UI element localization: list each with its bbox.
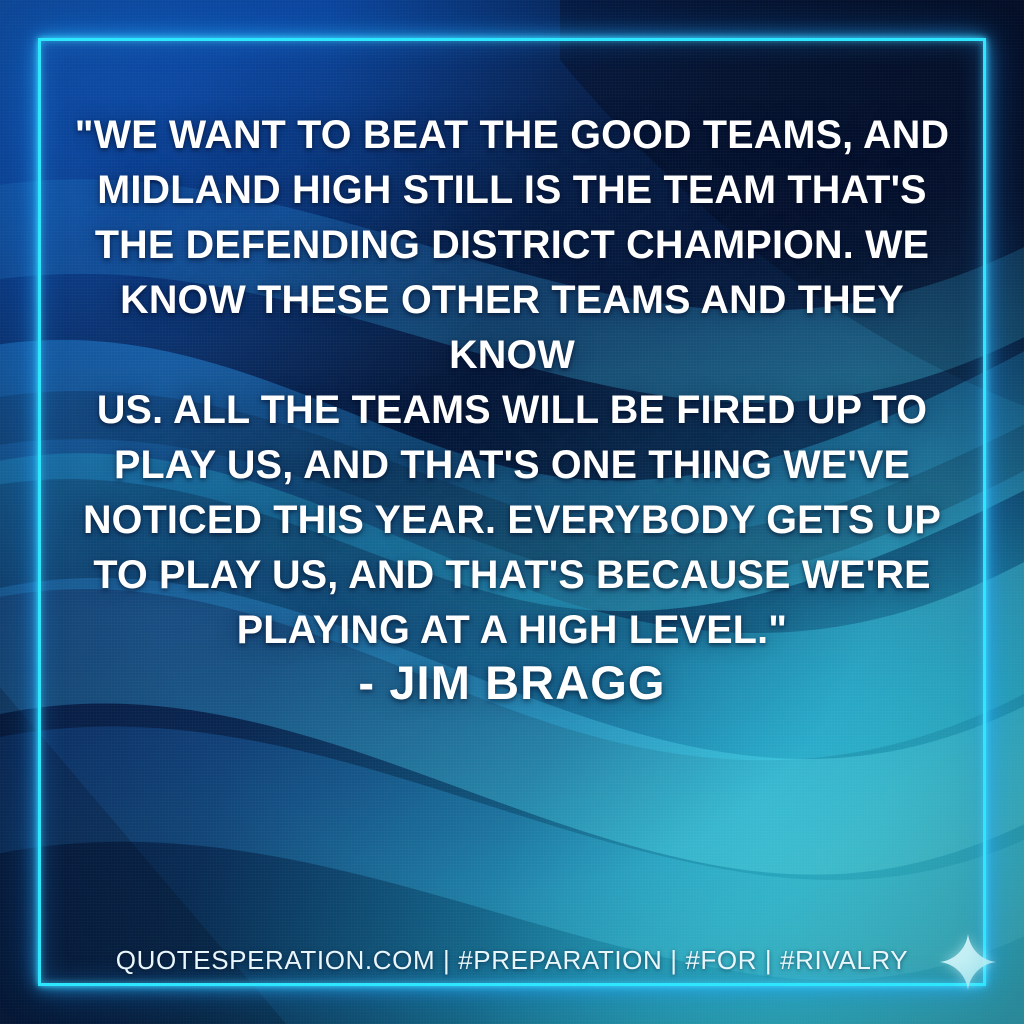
card-content: "WE WANT TO BEAT THE GOOD TEAMS, AND MID… [0, 0, 1024, 1024]
quote-attribution: - JIM BRAGG [0, 655, 1024, 710]
quote-card: "WE WANT TO BEAT THE GOOD TEAMS, AND MID… [0, 0, 1024, 1024]
footer-credit-text: QUOTESPERATION.COM | #PREPARATION | #FOR… [116, 945, 908, 976]
footer-bar: QUOTESPERATION.COM | #PREPARATION | #FOR… [0, 940, 1024, 980]
quote-text: "WE WANT TO BEAT THE GOOD TEAMS, AND MID… [72, 108, 952, 658]
sparkle-icon [938, 932, 998, 992]
